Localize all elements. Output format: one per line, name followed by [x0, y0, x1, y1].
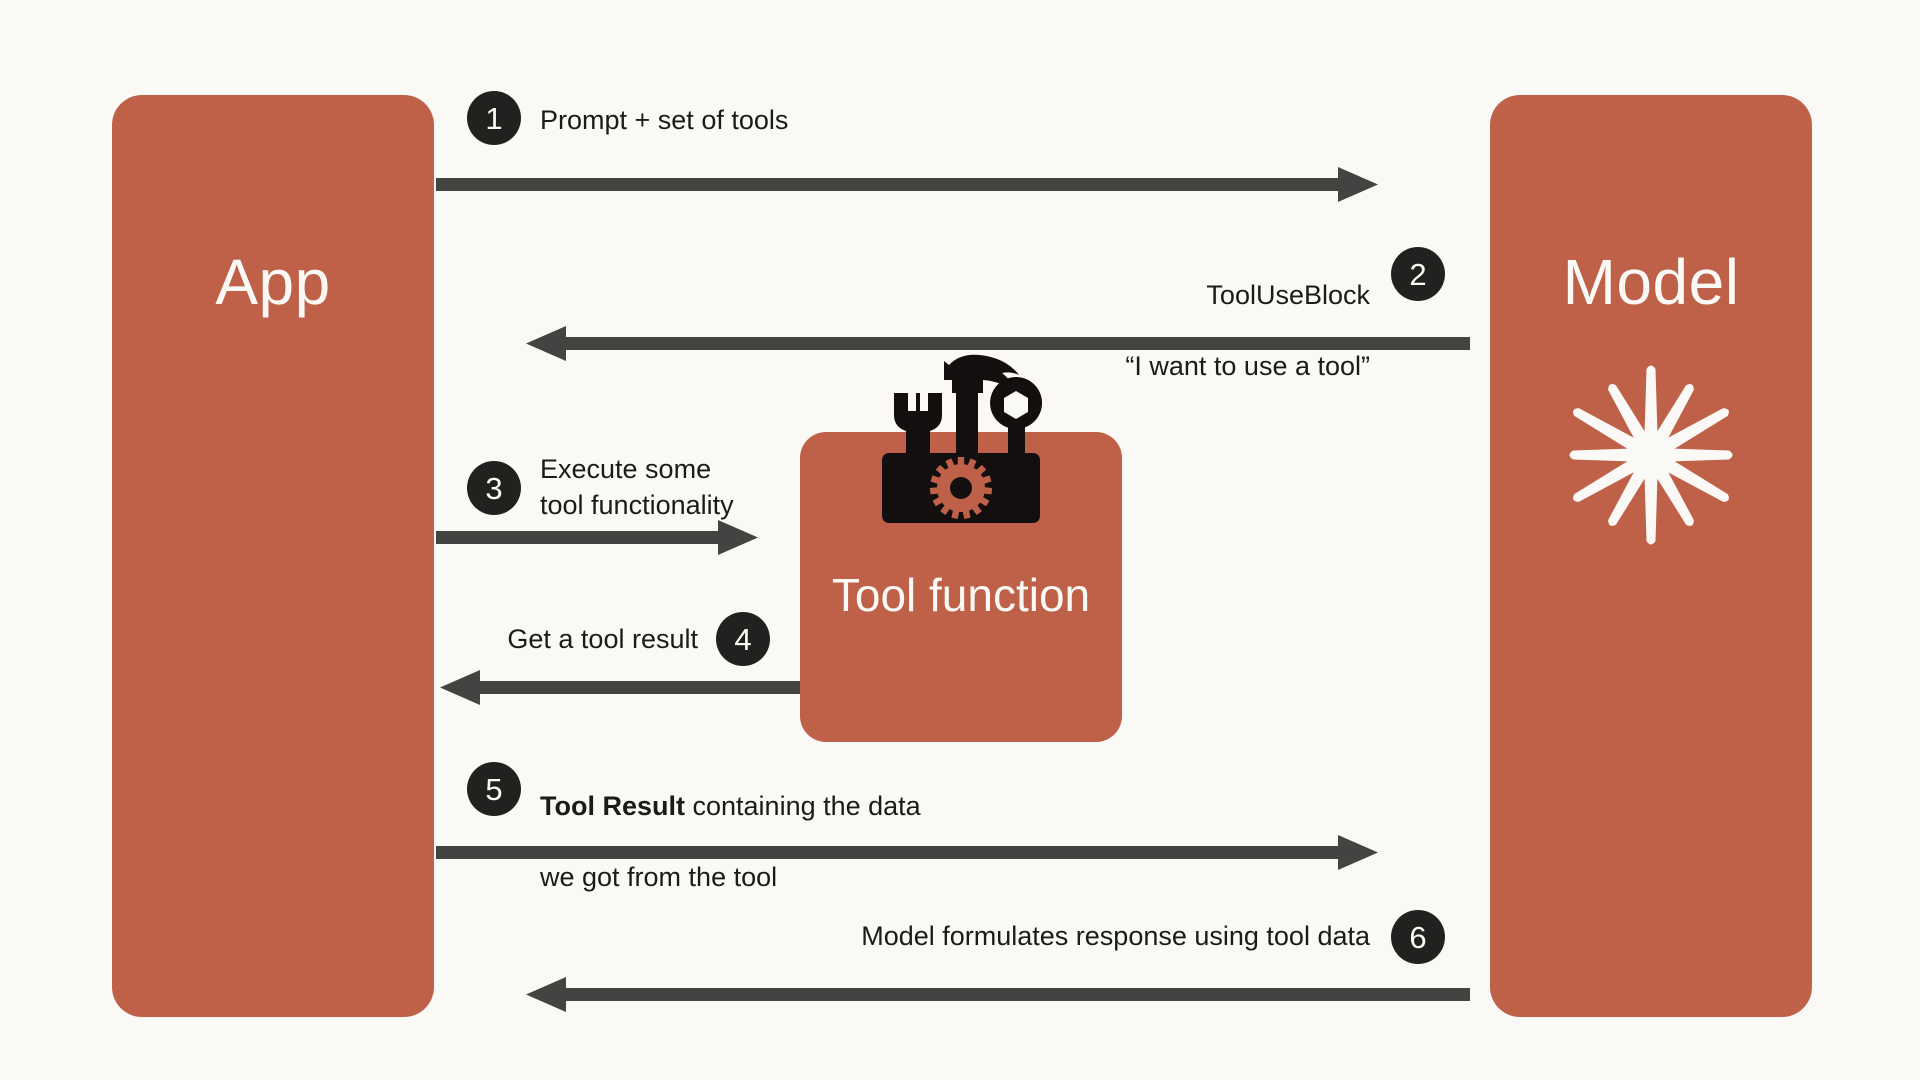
starburst-icon	[1551, 355, 1751, 555]
step-2-caption-line1: ToolUseBlock	[980, 278, 1370, 314]
arrow-step-3	[436, 518, 766, 558]
step-5-caption-line2: we got from the tool	[540, 860, 921, 896]
step-5-caption: Tool Result containing the data we got f…	[540, 753, 921, 931]
step-1-caption: Prompt + set of tools	[540, 103, 788, 139]
model-node-label: Model	[1490, 250, 1812, 314]
step-5-caption-line1: Tool Result containing the data	[540, 789, 921, 825]
step-4-badge: 4	[716, 612, 770, 666]
arrow-step-1	[436, 165, 1386, 205]
step-5-rest: containing the data	[685, 791, 921, 821]
step-5-badge: 5	[467, 762, 521, 816]
step-5-bold-term: Tool Result	[540, 791, 685, 821]
model-node: Model	[1490, 95, 1812, 1017]
step-6-caption: Model formulates response using tool dat…	[700, 919, 1370, 955]
app-node: App	[112, 95, 434, 1017]
arrow-step-6	[522, 975, 1472, 1015]
step-2-badge: 2	[1391, 247, 1445, 301]
step-3-badge: 3	[467, 461, 521, 515]
step-1-badge: 1	[467, 91, 521, 145]
step-3-caption: Execute some tool functionality	[540, 452, 734, 523]
step-6-badge: 6	[1391, 910, 1445, 964]
app-node-label: App	[112, 250, 434, 314]
step-2-caption: ToolUseBlock “I want to use a tool”	[980, 242, 1370, 420]
step-2-caption-line2: “I want to use a tool”	[980, 349, 1370, 385]
step-4-caption: Get a tool result	[400, 622, 698, 658]
arrow-step-4	[436, 668, 802, 708]
diagram-canvas: App Model	[0, 0, 1920, 1080]
tool-function-label: Tool function	[800, 560, 1122, 631]
tool-function-node: Tool function	[800, 432, 1122, 742]
